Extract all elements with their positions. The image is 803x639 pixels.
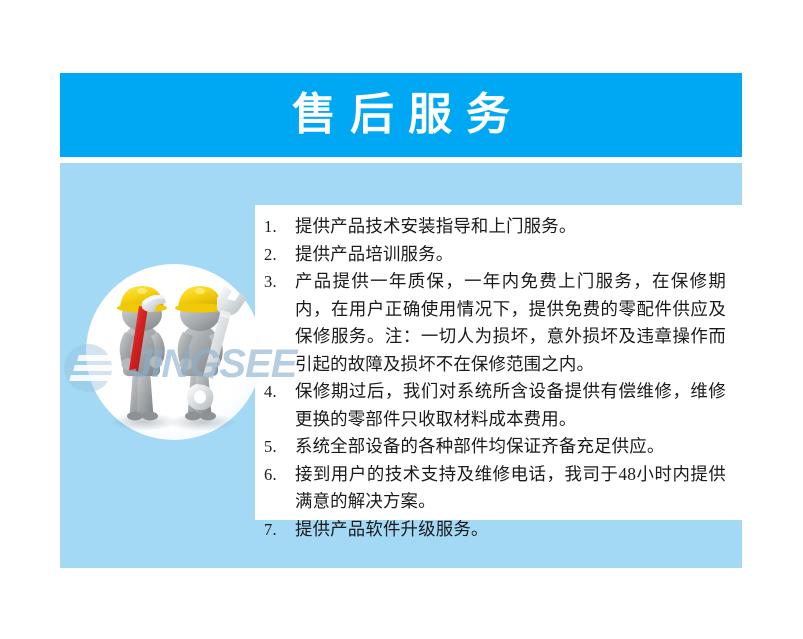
list-item: 提供产品软件升级服务。 (295, 516, 726, 544)
workmen-illustration (78, 258, 268, 448)
page-banner: 售后服务 (60, 73, 742, 157)
list-item: 接到用户的技术支持及维修电话，我司于48小时内提供满意的解决方案。 (295, 461, 726, 516)
workmen-figures-icon (78, 258, 268, 448)
list-item: 提供产品技术安装指导和上门服务。 (295, 213, 726, 241)
list-item: 产品提供一年质保，一年内免费上门服务，在保修期内，在用户正确使用情况下，提供免费… (295, 268, 726, 378)
document-page: 售后服务 提供产品技术安装指导和上门服务。 提供产品培训服务。 产品提供一年质保… (0, 0, 803, 639)
content-card: 提供产品技术安装指导和上门服务。 提供产品培训服务。 产品提供一年质保，一年内免… (255, 205, 742, 520)
service-list: 提供产品技术安装指导和上门服务。 提供产品培训服务。 产品提供一年质保，一年内免… (255, 205, 742, 543)
list-item: 保修期过后，我们对系统所含设备提供有偿维修，维修更换的零部件只收取材料成本费用。 (295, 378, 726, 433)
list-item: 提供产品培训服务。 (295, 241, 726, 269)
list-item: 系统全部设备的各种部件均保证齐备充足供应。 (295, 433, 726, 461)
page-title: 售后服务 (278, 93, 524, 137)
